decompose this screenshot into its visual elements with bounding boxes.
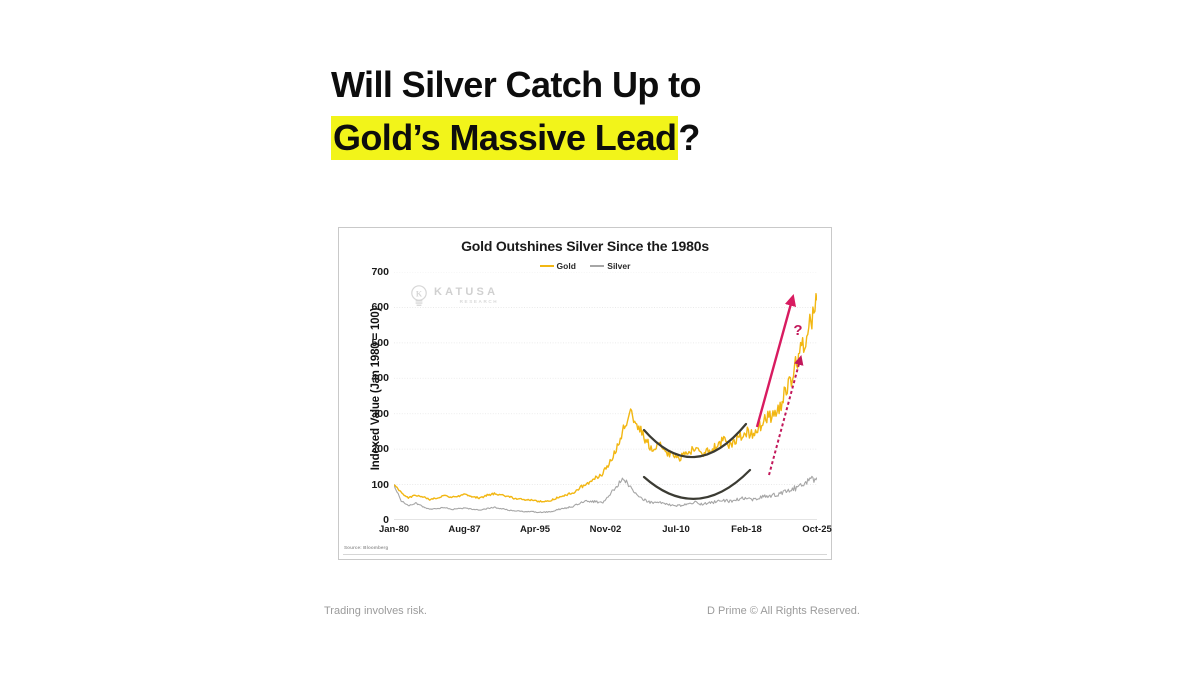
- chart-source-note: Source: Bloomberg: [344, 545, 388, 550]
- series-line-gold: [394, 294, 817, 502]
- chart-card: Gold Outshines Silver Since the 1980s Go…: [338, 227, 832, 560]
- x-axis-tick-aug-87: Aug-87: [448, 524, 480, 535]
- x-axis-tick-nov-02: Nov-02: [590, 524, 622, 535]
- x-axis-tick-labels: Jan-80Aug-87Apr-95Nov-02Jul-10Feb-18Oct-…: [394, 524, 817, 542]
- y-axis-tick-300: 300: [347, 408, 389, 420]
- x-axis-tick-apr-95: Apr-95: [520, 524, 550, 535]
- legend-item-silver: Silver: [590, 261, 630, 271]
- x-axis-tick-jan-80: Jan-80: [379, 524, 409, 535]
- title-line-1: Will Silver Catch Up to: [331, 58, 871, 111]
- y-axis-tick-400: 400: [347, 372, 389, 384]
- y-axis-tick-700: 700: [347, 266, 389, 278]
- series-line-silver: [394, 476, 817, 512]
- gold-cup-pattern-arc: [644, 424, 746, 457]
- x-axis-tick-oct-25: Oct-25: [802, 524, 832, 535]
- footer-disclaimer: Trading involves risk.: [324, 605, 427, 617]
- legend-item-gold: Gold: [540, 261, 576, 271]
- page-title: Will Silver Catch Up to Gold’s Massive L…: [331, 58, 871, 164]
- legend-label-silver: Silver: [607, 261, 630, 271]
- x-axis-tick-feb-18: Feb-18: [731, 524, 762, 535]
- title-highlight: Gold’s Massive Lead: [331, 116, 678, 160]
- silver-potential-arrow: [769, 360, 800, 475]
- y-axis-tick-500: 500: [347, 337, 389, 349]
- title-line-2: Gold’s Massive Lead?: [331, 111, 871, 164]
- legend-label-gold: Gold: [557, 261, 576, 271]
- chart-legend: Gold Silver: [339, 261, 831, 271]
- legend-swatch-silver-icon: [590, 265, 604, 268]
- x-axis-tick-jul-10: Jul-10: [662, 524, 689, 535]
- y-axis-tick-600: 600: [347, 301, 389, 313]
- question-mark-annotation: ?: [793, 322, 802, 339]
- chart-title: Gold Outshines Silver Since the 1980s: [339, 238, 831, 254]
- y-axis-tick-200: 200: [347, 443, 389, 455]
- y-axis-tick-labels: 0100200300400500600700: [347, 272, 389, 520]
- card-baseline-divider: [343, 554, 827, 555]
- title-question-mark: ?: [678, 117, 699, 158]
- footer-copyright: D Prime © All Rights Reserved.: [707, 605, 860, 617]
- chart-plot-svg: ?: [394, 272, 817, 520]
- gridlines: [394, 272, 817, 520]
- legend-swatch-gold-icon: [540, 265, 554, 268]
- plot-area: ?: [394, 272, 817, 520]
- y-axis-tick-100: 100: [347, 479, 389, 491]
